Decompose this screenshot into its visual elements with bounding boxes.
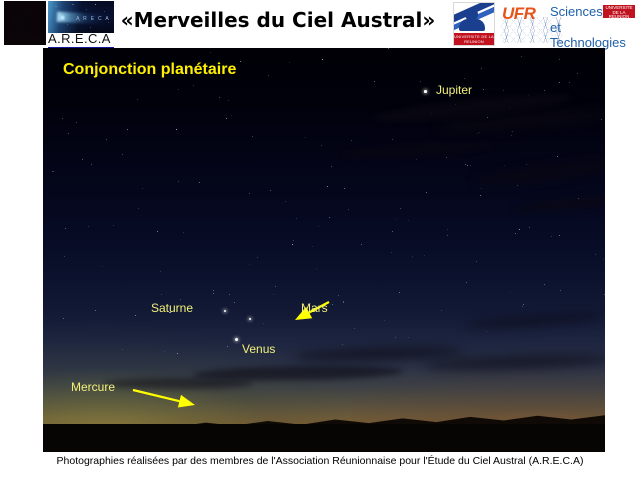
- planet-label-mars: Mars: [301, 301, 328, 315]
- planet-label-jupiter: Jupiter: [436, 83, 472, 97]
- universite-reunion-logo: UNIVERSITE DE LA REUNION: [453, 2, 495, 46]
- page-title: «Merveilles du Ciel Austral»: [118, 8, 438, 32]
- ufr-universite-badge: UNIVERSITE DE LA REUNION: [603, 5, 635, 18]
- areca-wordmark-on-comet: A R E C A: [76, 16, 110, 22]
- planet-label-saturne: Saturne: [151, 301, 193, 315]
- telescope-tube-shape: [10, 9, 32, 23]
- logo-red-bar-text: UNIVERSITE DE LA REUNION: [454, 34, 494, 44]
- logo-figure-body: [459, 19, 485, 31]
- slide-header: A R E C A A.R.E.C.A «Merveilles du Ciel …: [0, 0, 640, 48]
- ufr-wordmark: UFR: [502, 4, 535, 24]
- ufr-line-sciences: Sciences: [550, 4, 603, 19]
- photo-title: Conjonction planétaire: [63, 61, 236, 79]
- night-sky-photograph: JupiterSaturneMarsVenusMercure Conjoncti…: [43, 48, 605, 452]
- areca-logo: A R E C A A.R.E.C.A: [4, 1, 114, 47]
- arrow-head: [178, 395, 195, 408]
- planet-label-mercure: Mercure: [71, 380, 115, 394]
- planet-label-venus: Venus: [242, 342, 275, 356]
- ufr-sciences-technologies-logo: UFR Sciences et Technologies UNIVERSITE …: [500, 3, 636, 45]
- photo-credit-caption: Photographies réalisées par des membres …: [0, 455, 640, 467]
- telescope-sunset-photo: [4, 1, 46, 45]
- comet-photo: A R E C A: [48, 1, 114, 33]
- arrow-shaft: [133, 390, 179, 401]
- ufr-line-technologies: et Technologies: [550, 20, 636, 50]
- mercure-arrow: [43, 48, 605, 452]
- areca-label: A.R.E.C.A: [48, 31, 111, 46]
